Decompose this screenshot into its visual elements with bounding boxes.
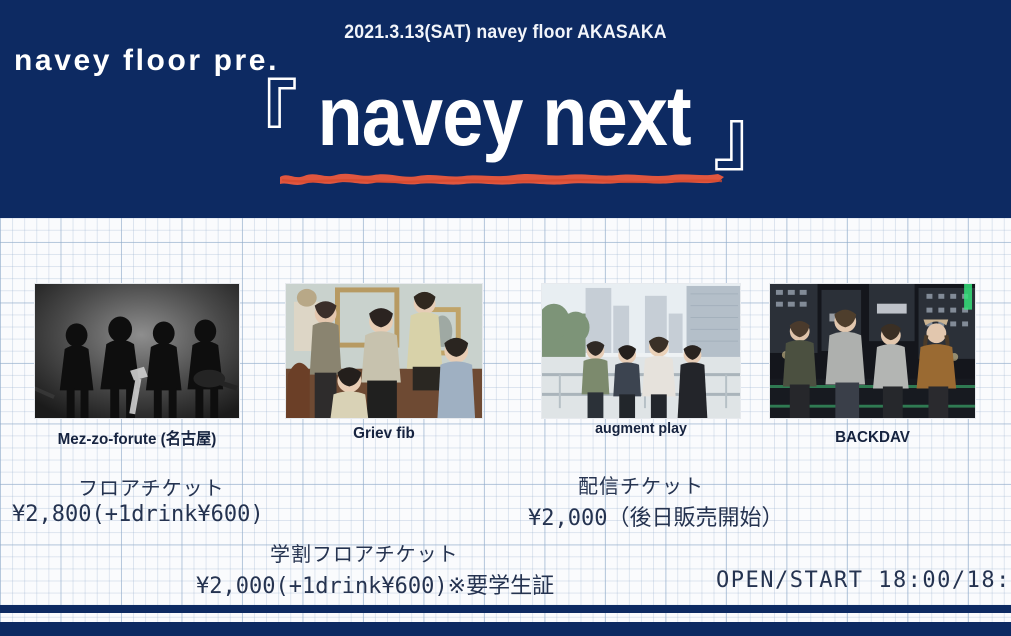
- artist-photo-4: [769, 283, 976, 419]
- event-title: navey next: [318, 74, 691, 158]
- artist-name-3: augment play: [546, 420, 736, 437]
- event-date-venue: 2021.3.13(SAT) navey floor AKASAKA: [35, 22, 975, 44]
- event-flyer: 2021.3.13(SAT) navey floor AKASAKA navey…: [0, 0, 1011, 636]
- bracket-close-icon: 』: [713, 100, 789, 176]
- ticket-info-section: フロアチケット ¥2,800(+1drink¥600) 配信チケット ¥2,00…: [0, 472, 1011, 602]
- student-ticket-label: 学割フロアチケット: [270, 538, 459, 567]
- header-band: 2021.3.13(SAT) navey floor AKASAKA navey…: [0, 0, 1011, 218]
- stream-ticket-label: 配信チケット: [578, 470, 704, 499]
- floor-ticket-price: ¥2,800(+1drink¥600): [12, 502, 264, 527]
- bracket-open-icon: 『: [222, 78, 298, 154]
- artist-photo-row: Mez-zo-forute (名古屋): [0, 283, 1011, 421]
- artist-card-3: augment play: [541, 283, 741, 419]
- artist-card-1: Mez-zo-forute (名古屋): [34, 283, 240, 419]
- artist-name-4: BACKDAV: [774, 429, 971, 447]
- floor-ticket-label: フロアチケット: [78, 472, 225, 501]
- artist-photo-2: [285, 283, 483, 419]
- artist-photo-card-4: BACKDAV: [769, 283, 976, 419]
- artist-name-1: Mez-zo-forute (名古屋): [39, 425, 235, 449]
- artist-card-2: Griev fib: [285, 283, 483, 419]
- open-start-time: OPEN/START 18:00/18:30: [716, 568, 1011, 593]
- student-ticket-price: ¥2,000(+1drink¥600)※要学生証: [196, 568, 554, 600]
- artist-photo-3: [541, 283, 741, 419]
- stream-ticket-price: ¥2,000（後日販売開始）: [528, 500, 783, 532]
- artist-name-2: Griev fib: [290, 425, 478, 443]
- brush-underline-icon: [278, 168, 728, 188]
- artist-photo-1: [34, 283, 240, 419]
- bottom-bar-thin: [0, 605, 1011, 613]
- bottom-bar-thick: [0, 622, 1011, 636]
